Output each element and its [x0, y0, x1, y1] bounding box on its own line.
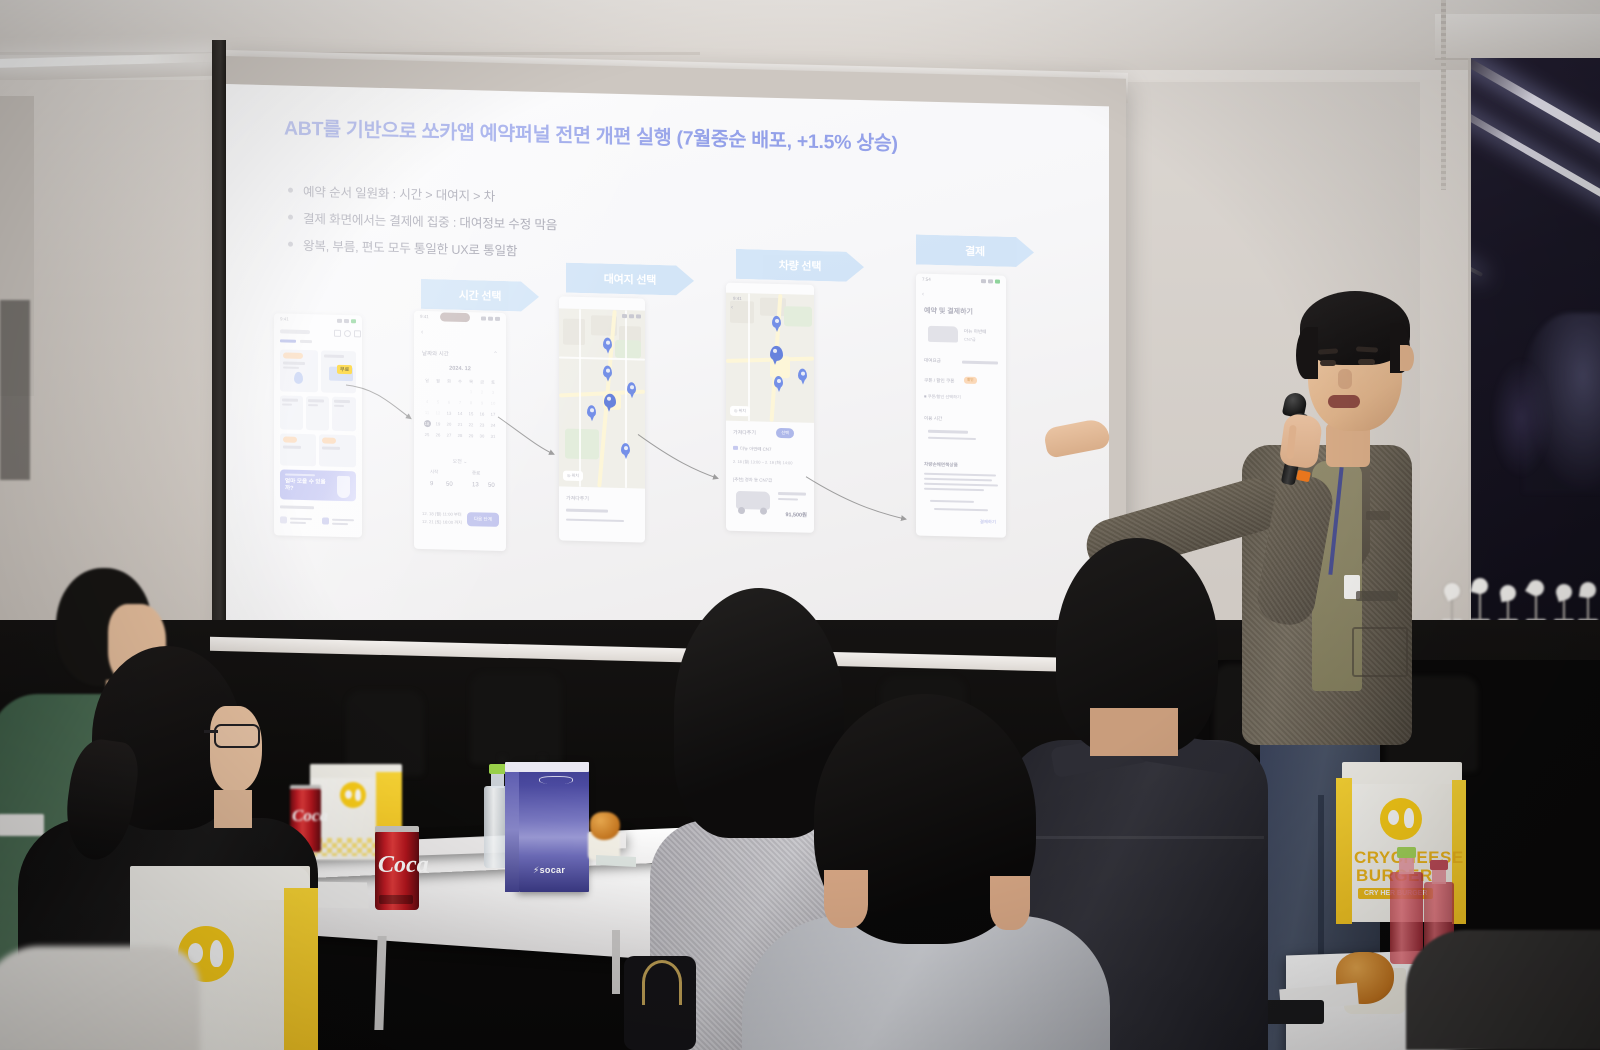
time-col-label: 종료	[472, 470, 480, 476]
calendar-day[interactable]: 11	[422, 409, 432, 416]
phone-mockup-time: 9:41 ‹ 날짜와 시간 ⌃ 2024. 12 일 월 화 수	[414, 311, 506, 551]
notebook	[596, 855, 636, 867]
weekday: 일	[422, 377, 432, 384]
section-title	[280, 505, 314, 509]
car-wheel-icon	[760, 508, 767, 515]
calendar-day[interactable]: 20	[444, 421, 454, 428]
step-label: 대여지 선택	[604, 271, 656, 288]
chair	[470, 672, 562, 764]
tile-card	[280, 433, 316, 466]
photo-scene: ABT를 기반으로 쏘카앱 예약퍼널 전면 개편 실행 (7월중순 배포, +1…	[0, 0, 1600, 1050]
weekday: 수	[455, 378, 465, 385]
tile-title	[324, 354, 344, 358]
status-time: 7:54	[922, 277, 931, 282]
blind-cord	[1441, 0, 1446, 190]
calendar-weekday-row: 일 월 화 수 목 금 토	[422, 377, 498, 386]
cola-can: Coca	[375, 830, 419, 910]
map-view[interactable]: ◎ 위치	[559, 308, 645, 488]
calendar-blank	[444, 388, 454, 395]
select-badge[interactable]: 선택	[776, 428, 794, 438]
calendar-day[interactable]: 8	[466, 399, 476, 406]
wifi-icon	[988, 279, 993, 283]
time-value[interactable]: 50	[488, 483, 495, 489]
calendar-day[interactable]: 16	[477, 410, 487, 417]
calendar-day[interactable]: 1	[466, 388, 476, 395]
calendar-day[interactable]: 24	[488, 422, 498, 429]
map-pin-icon[interactable]	[621, 443, 630, 455]
footer-link	[280, 513, 316, 530]
blazer-chest-pocket	[1366, 511, 1390, 520]
calendar-day[interactable]: 25	[422, 431, 432, 438]
map-pin-icon[interactable]	[798, 368, 807, 380]
neck	[1090, 708, 1178, 756]
tile-card	[280, 349, 318, 392]
map-view[interactable]: 9:41 ‹ ◎ 위치	[726, 293, 814, 423]
presenter-eye	[1320, 360, 1336, 366]
notice-title: 차량손해면책상품	[924, 462, 958, 469]
presenter-nose	[1338, 369, 1352, 389]
row-label: 대여요금	[924, 358, 941, 364]
ear-left	[824, 870, 868, 928]
promo-banner: 얼마 모을 수 있을까?	[280, 469, 356, 501]
presenter-hair-side	[1296, 327, 1318, 379]
range-line-2: 12. 21 (토) 16:00 까지	[422, 519, 462, 526]
presenter-eyebrow	[1356, 346, 1378, 352]
battery-icon	[636, 314, 641, 318]
calendar-day[interactable]: 13	[444, 410, 454, 417]
calendar-day[interactable]: 18	[422, 420, 432, 427]
bag-handle	[539, 776, 573, 784]
status-time: 9:41	[420, 314, 429, 319]
grid-icon	[334, 330, 341, 337]
calendar-day[interactable]: 15	[466, 410, 476, 417]
tab-inactive	[300, 340, 312, 343]
bottle-cap	[489, 764, 506, 774]
map-pin-icon[interactable]	[772, 316, 781, 328]
phone-mockup-home: 9:41	[274, 313, 362, 537]
step-banner-1: 시간 선택	[421, 279, 539, 312]
tile-card	[280, 395, 303, 430]
handbag-chain	[642, 960, 682, 1005]
step-label: 결제	[965, 243, 985, 260]
calendar-day[interactable]: 17	[488, 411, 498, 418]
socar-gift-bag: ⚡socar	[519, 762, 589, 892]
glasses	[214, 724, 260, 748]
car-sub: CN7급	[964, 337, 976, 343]
wifi-icon	[629, 314, 634, 318]
time-value[interactable]: 13	[472, 482, 479, 488]
map-pin-icon[interactable]	[603, 338, 612, 350]
window-light-reflection	[1468, 58, 1600, 238]
calendar-day[interactable]: 12	[433, 409, 443, 416]
status-time: 9:41	[733, 296, 742, 301]
map-pin-selected-icon[interactable]	[770, 346, 783, 361]
table-leg	[612, 930, 620, 994]
weekday: 목	[466, 378, 476, 385]
map-pin-icon[interactable]	[603, 366, 612, 378]
phone-status-bar: 9:41	[274, 313, 362, 326]
battery-icon	[351, 319, 356, 323]
step-banner-3: 차량 선택	[736, 249, 864, 282]
structural-column	[212, 40, 226, 640]
header-icons	[334, 330, 361, 338]
wall-left-shadow	[0, 300, 30, 480]
menu-icon	[354, 330, 361, 337]
promo-text: 얼마 모을 수 있을까?	[285, 478, 329, 493]
step-banner-4: 결제	[916, 234, 1034, 267]
tile-card	[319, 434, 356, 467]
calendar-day[interactable]: 21	[455, 421, 465, 428]
wifi-icon	[344, 318, 349, 322]
coupon-row[interactable]: ■ 쿠폰/할인 선택하기	[924, 394, 961, 401]
calendar-day[interactable]: 14	[455, 410, 465, 417]
range-line-1: 12. 18 (월) 11:00 부터	[422, 511, 462, 518]
car-badge-icon	[733, 446, 738, 450]
row-label: 쿠폰 / 할인 쿠폰	[924, 378, 954, 385]
footer-link	[322, 514, 358, 531]
map-pin-icon	[294, 372, 303, 384]
map-layer-toggle[interactable]: ◎ 위치	[730, 406, 750, 417]
next-step-button[interactable]: 다음 단계	[467, 512, 499, 527]
bottle-cap	[1397, 847, 1416, 858]
tile-card	[332, 397, 356, 432]
status-time: 9:41	[280, 316, 289, 321]
calendar-month: 2024. 12	[414, 365, 506, 373]
screen-heading: 예약 및 결제하기	[924, 306, 973, 317]
tile-sub	[283, 366, 299, 368]
promo-illustration	[337, 476, 350, 498]
face-profile	[210, 706, 262, 792]
status-icons	[481, 316, 500, 320]
calendar-blank	[455, 388, 465, 395]
calendar-day[interactable]: 4	[422, 398, 432, 405]
step-banner-2: 대여지 선택	[566, 263, 694, 296]
tile-badge	[283, 352, 303, 359]
rental-period: 2. 18 (월) 13:00 ~ 2. 19 (화) 14:00	[733, 459, 793, 467]
signal-icon	[622, 314, 627, 318]
projection-screen: ABT를 기반으로 쏘카앱 예약퍼널 전면 개편 실행 (7월중순 배포, +1…	[226, 56, 1126, 679]
car-name: 더뉴 아반떼 CN7	[740, 446, 771, 453]
map-pin-selected-icon[interactable]	[604, 394, 616, 408]
weekday: 화	[444, 378, 454, 385]
blazer-pocket-flap	[1352, 627, 1408, 677]
signal-icon	[981, 279, 986, 283]
socar-brand-label: ⚡socar	[533, 865, 565, 876]
phone-mockup-payment: 7:54 ‹ 예약 및 결제하기 더뉴 아반떼 CN7급 대여요금 쿠폰 / 할…	[916, 273, 1006, 537]
presenter-mouth-open	[1328, 395, 1360, 408]
battery-icon	[495, 316, 500, 320]
calendar-day-selected[interactable]: 18	[424, 420, 431, 427]
time-col-label: 시작	[430, 469, 438, 475]
section-title: [추천] 경차 등 CN7급	[733, 477, 772, 484]
roller-blind-housing	[1435, 14, 1600, 60]
presenter-ear	[1400, 345, 1414, 371]
calendar-day[interactable]: 28	[455, 432, 465, 439]
map-pin-icon[interactable]	[587, 405, 596, 417]
calendar-day[interactable]: 9	[477, 399, 487, 406]
dynamic-island	[440, 312, 470, 322]
screen-heading: 날짜와 시간	[422, 349, 449, 358]
tab-active	[280, 339, 296, 342]
free-badge: 무료	[337, 365, 352, 374]
card-icon	[322, 517, 329, 524]
weekday: 토	[488, 379, 498, 386]
time-value[interactable]: 50	[446, 482, 453, 488]
chevron-up-icon[interactable]: ⌃	[493, 351, 498, 358]
window-ambient-reflection	[1491, 358, 1551, 478]
person-foreground-shoulder	[0, 946, 200, 1050]
calendar-day[interactable]: 2	[477, 388, 487, 395]
person-light-sweater	[766, 694, 1096, 1050]
map-layer-toggle[interactable]: ◎ 위치	[563, 471, 583, 482]
ear-right	[990, 876, 1030, 930]
can-label-strip	[379, 895, 413, 904]
calendar-day[interactable]: 23	[477, 421, 487, 428]
tile-title	[283, 361, 305, 365]
back-icon[interactable]: ‹	[922, 292, 924, 298]
window-light-reflection	[1468, 203, 1483, 277]
step-label: 시간 선택	[459, 287, 502, 304]
map-status-icons	[622, 314, 641, 318]
car-name: 더뉴 아반떼	[964, 329, 986, 336]
person-right-edge	[1406, 930, 1600, 1050]
phone-status-bar: 9:41	[414, 311, 506, 324]
app-logo	[280, 329, 310, 334]
calendar-day[interactable]: 22	[466, 421, 476, 428]
weekday: 월	[433, 377, 443, 384]
back-icon[interactable]: ‹	[421, 329, 423, 336]
status-icons	[981, 279, 1000, 283]
calendar-day[interactable]: 26	[433, 431, 443, 438]
calendar-day[interactable]: 29	[466, 432, 476, 439]
row-label: 이용 시간	[924, 416, 942, 422]
phone-mockup-vehicle: 9:41 ‹ ◎ 위치 가져다주기 선택 더뉴 아반떼 CN7 2. 18 (월…	[726, 283, 814, 533]
time-value[interactable]: 9	[430, 481, 433, 487]
car-thumbnail	[928, 326, 958, 343]
weekday: 금	[477, 378, 487, 385]
calendar-day[interactable]: 31	[488, 433, 498, 440]
fried-chicken	[590, 812, 620, 840]
calendar-day[interactable]: 10	[488, 400, 498, 407]
map-pin-icon[interactable]	[627, 382, 636, 394]
brand-logo-icon	[1380, 798, 1422, 840]
tile-card: 무료	[321, 350, 356, 393]
car-price: 91,500원	[786, 510, 807, 519]
map-pin-icon[interactable]	[774, 376, 783, 388]
calendar-blank	[422, 387, 432, 394]
torso	[1406, 930, 1600, 1050]
presenter-hand-mic	[1279, 413, 1324, 470]
vehicle-footer-label[interactable]: 가져다주기	[733, 429, 756, 437]
calendar-day[interactable]: 19	[433, 420, 443, 427]
status-icons	[337, 318, 356, 322]
tile-card	[306, 396, 329, 431]
phone-status-bar: 7:54	[916, 273, 1006, 286]
time-toggle[interactable]: 오전 ⌄	[414, 457, 506, 466]
promo-eyebrow	[285, 473, 315, 476]
step-label: 차량 선택	[779, 257, 822, 274]
battery-icon	[995, 279, 1000, 283]
car-wheel-icon	[738, 507, 745, 514]
signal-icon	[481, 316, 486, 320]
neck	[214, 790, 252, 828]
calendar-day[interactable]: 6	[444, 399, 454, 406]
calendar-day[interactable]: 5	[433, 398, 443, 405]
calendar-blank	[433, 387, 443, 394]
payment-cta[interactable]: 결제하기	[980, 519, 996, 525]
slide: ABT를 기반으로 쏘카앱 예약퍼널 전면 개편 실행 (7월중순 배포, +1…	[226, 84, 1109, 654]
back-icon[interactable]: ‹	[731, 305, 733, 311]
smartphone[interactable]	[1262, 1000, 1324, 1024]
calendar-day-grid[interactable]: 1234567891011121314151617181920212223242…	[422, 387, 498, 440]
calendar-day[interactable]: 30	[477, 432, 487, 439]
glasses-temple	[204, 730, 218, 733]
wifi-icon	[488, 316, 493, 320]
calendar-day[interactable]: 27	[444, 432, 454, 439]
brand-logo-icon	[340, 782, 366, 808]
blazer-pocket	[1356, 591, 1398, 601]
bottle-cap	[1430, 860, 1448, 870]
calendar-day[interactable]: 7	[455, 399, 465, 406]
calendar-day[interactable]: 3	[488, 389, 498, 396]
signal-icon	[337, 318, 342, 322]
phone-mockup-location: ◎ 위치 가져다주기	[559, 296, 645, 542]
presenter-eye	[1358, 359, 1375, 365]
bell-icon	[344, 330, 351, 337]
pin-icon	[280, 516, 287, 523]
location-footer-label[interactable]: 가져다주기	[566, 495, 589, 503]
coupon-badge: 할인	[964, 377, 977, 384]
